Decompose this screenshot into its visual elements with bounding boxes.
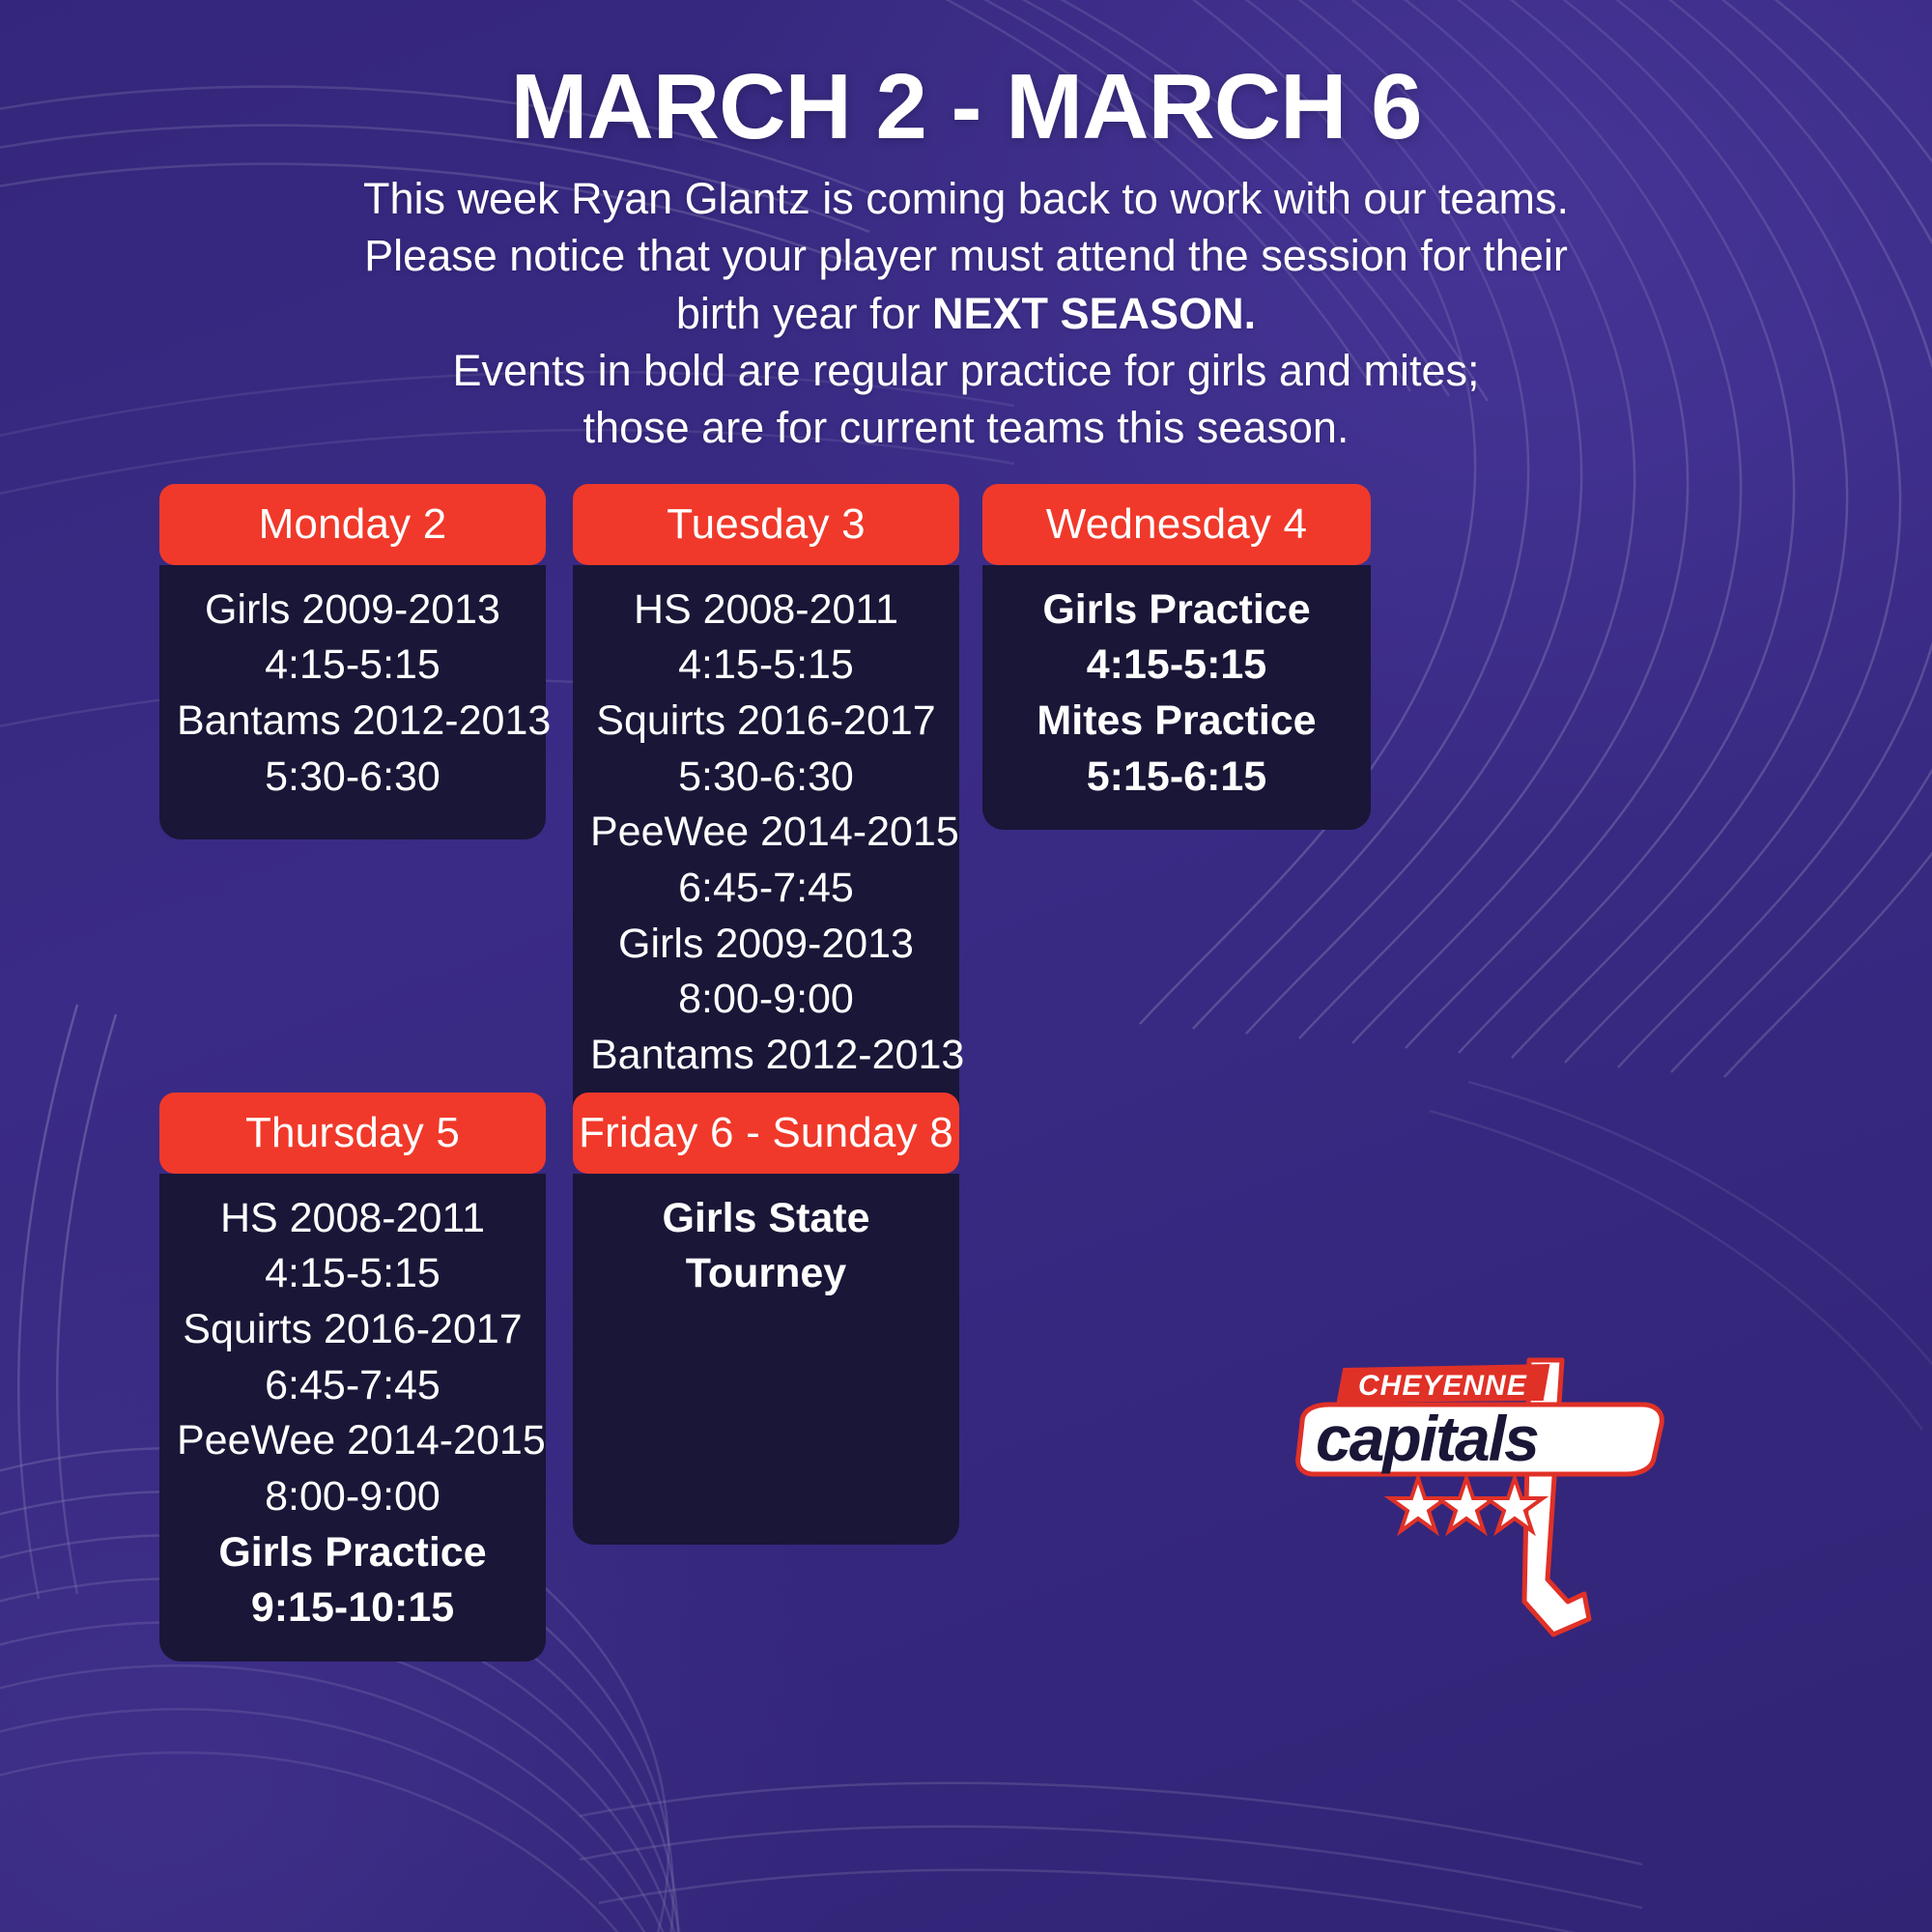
day-header-wednesday: Wednesday 4 [982, 484, 1371, 565]
intro-line-3: birth year for NEXT SEASON. [280, 285, 1652, 342]
day-body-thursday: HS 2008-2011 4:15-5:15 Squirts 2016-2017… [159, 1174, 546, 1662]
capitals-wordmark: capitals [1298, 1403, 1662, 1474]
event-line: 4:15-5:15 [177, 1246, 528, 1302]
capitals-text: capitals [1316, 1403, 1538, 1474]
day-body-wednesday: Girls Practice 4:15-5:15 Mites Practice … [982, 565, 1371, 830]
event-line: PeeWee 2014-2015 [590, 805, 942, 861]
day-header-friday: Friday 6 - Sunday 8 [573, 1093, 959, 1174]
day-body-tuesday: HS 2008-2011 4:15-5:15 Squirts 2016-2017… [573, 565, 959, 1164]
event-line: 9:15-10:15 [177, 1580, 528, 1636]
intro-next-season: NEXT SEASON. [932, 289, 1256, 338]
day-card-thursday[interactable]: Thursday 5 HS 2008-2011 4:15-5:15 Squirt… [159, 1093, 546, 1662]
intro-line-1: This week Ryan Glantz is coming back to … [280, 170, 1652, 227]
event-line: Bantams 2012-2013 [590, 1028, 942, 1084]
event-line: 8:00-9:00 [590, 972, 942, 1028]
event-line: Tourney [590, 1246, 942, 1302]
event-line: 6:45-7:45 [590, 861, 942, 917]
event-line: 6:45-7:45 [177, 1358, 528, 1414]
day-header-thursday: Thursday 5 [159, 1093, 546, 1174]
day-body-friday: Girls State Tourney [573, 1174, 959, 1545]
day-body-monday: Girls 2009-2013 4:15-5:15 Bantams 2012-2… [159, 565, 546, 839]
cheyenne-text: CHEYENNE [1358, 1370, 1527, 1402]
day-header-monday: Monday 2 [159, 484, 546, 565]
event-line: HS 2008-2011 [590, 582, 942, 639]
cheyenne-banner: CHEYENNE [1339, 1366, 1548, 1402]
event-line: 4:15-5:15 [590, 638, 942, 694]
event-line: 5:30-6:30 [590, 750, 942, 806]
event-line: Squirts 2016-2017 [177, 1302, 528, 1358]
event-line: Girls Practice [177, 1525, 528, 1581]
event-line: PeeWee 2014-2015 [177, 1413, 528, 1469]
event-line: 5:30-6:30 [177, 750, 528, 806]
intro-paragraph: This week Ryan Glantz is coming back to … [280, 170, 1652, 457]
three-stars-icon [1390, 1478, 1543, 1531]
day-card-friday[interactable]: Friday 6 - Sunday 8 Girls State Tourney [573, 1093, 959, 1545]
day-card-tuesday[interactable]: Tuesday 3 HS 2008-2011 4:15-5:15 Squirts… [573, 484, 959, 1164]
event-line: Girls 2009-2013 [590, 917, 942, 973]
intro-line-5: those are for current teams this season. [280, 399, 1652, 456]
cheyenne-capitals-logo: capitals CHEYENNE [1294, 1352, 1700, 1662]
event-line: 8:00-9:00 [177, 1469, 528, 1525]
event-line: HS 2008-2011 [177, 1191, 528, 1247]
intro-line-4: Events in bold are regular practice for … [280, 342, 1652, 399]
intro-line-2: Please notice that your player must atte… [280, 227, 1652, 284]
event-line: Mites Practice [1000, 694, 1353, 750]
event-line: Squirts 2016-2017 [590, 694, 942, 750]
event-line: Girls State [590, 1191, 942, 1247]
event-line: Bantams 2012-2013 [177, 694, 528, 750]
poster-content: MARCH 2 - MARCH 6 This week Ryan Glantz … [0, 0, 1932, 457]
event-line: Girls Practice [1000, 582, 1353, 639]
event-line: 4:15-5:15 [1000, 638, 1353, 694]
event-line: 4:15-5:15 [177, 638, 528, 694]
intro-line-3-text: birth year for [676, 289, 932, 338]
day-header-tuesday: Tuesday 3 [573, 484, 959, 565]
event-line: 5:15-6:15 [1000, 750, 1353, 806]
day-card-wednesday[interactable]: Wednesday 4 Girls Practice 4:15-5:15 Mit… [982, 484, 1371, 830]
page-title: MARCH 2 - MARCH 6 [0, 0, 1932, 155]
day-card-monday[interactable]: Monday 2 Girls 2009-2013 4:15-5:15 Banta… [159, 484, 546, 839]
event-line: Girls 2009-2013 [177, 582, 528, 639]
